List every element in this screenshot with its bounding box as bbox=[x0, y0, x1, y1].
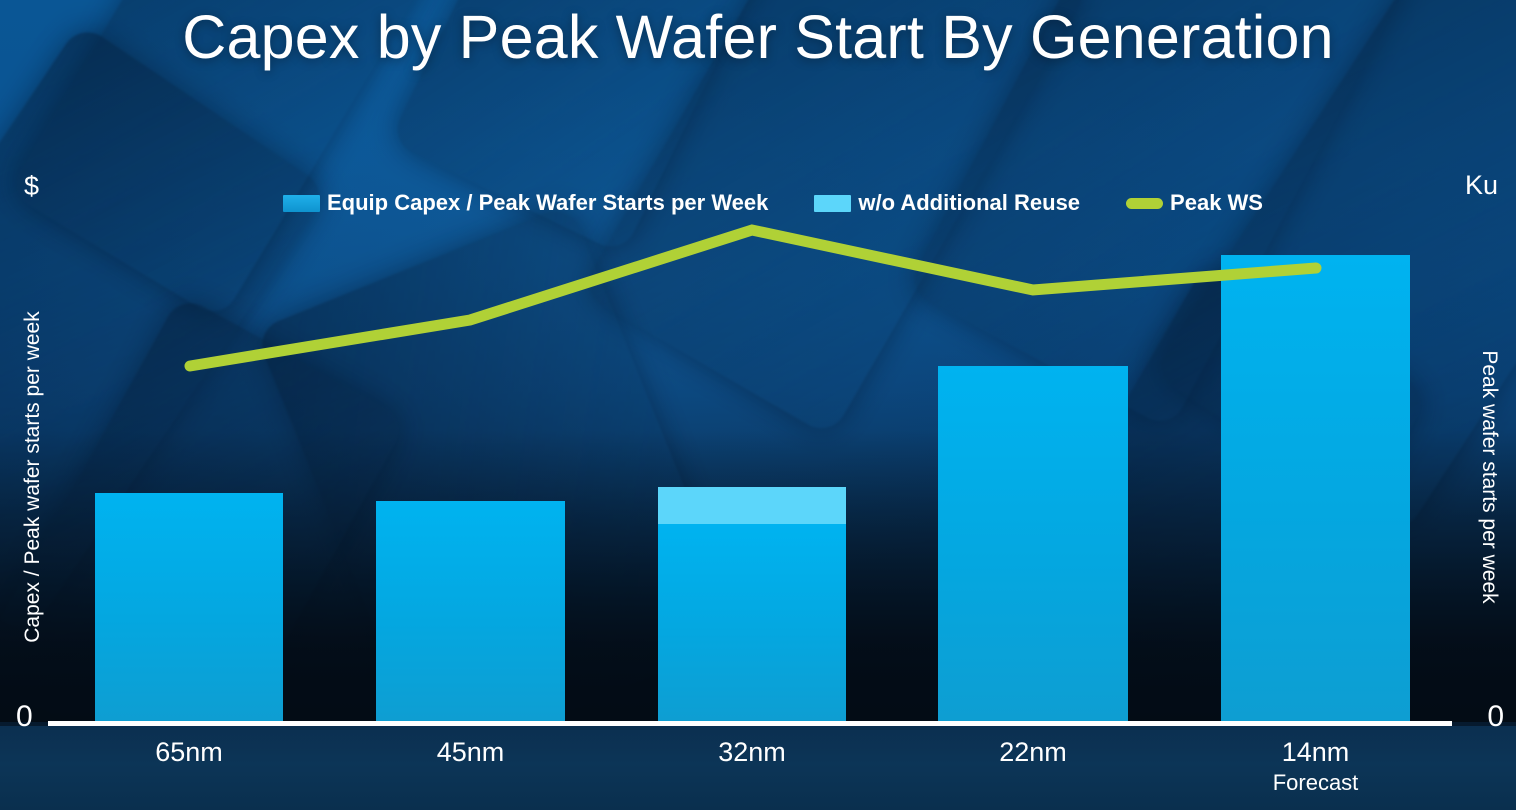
bar-32nm[interactable] bbox=[658, 487, 846, 721]
x-axis-label-14nm: 14nmForecast bbox=[1221, 735, 1410, 797]
bar-14nm[interactable] bbox=[1221, 255, 1410, 721]
bar-segment-capex bbox=[658, 524, 846, 721]
plot-area bbox=[0, 0, 1516, 810]
bar-segment-without-additional-reuse bbox=[658, 487, 846, 524]
x-axis-label-22nm: 22nm bbox=[938, 735, 1128, 769]
x-axis-label-45nm: 45nm bbox=[376, 735, 565, 769]
x-axis-label-name: 65nm bbox=[95, 735, 283, 769]
bar-segment-capex bbox=[95, 493, 283, 721]
bar-segment-capex bbox=[1221, 255, 1410, 721]
x-axis-label-name: 22nm bbox=[938, 735, 1128, 769]
x-axis-label-name: 32nm bbox=[658, 735, 846, 769]
x-axis-label-name: 45nm bbox=[376, 735, 565, 769]
bar-segment-capex bbox=[938, 366, 1128, 721]
x-axis-label-name: 14nm bbox=[1221, 735, 1410, 769]
chart-slide: Capex by Peak Wafer Start By Generation … bbox=[0, 0, 1516, 810]
x-axis-label-32nm: 32nm bbox=[658, 735, 846, 769]
bar-segment-capex bbox=[376, 501, 565, 721]
x-axis-label-sublabel: Forecast bbox=[1221, 769, 1410, 797]
bar-65nm[interactable] bbox=[95, 493, 283, 721]
x-axis-label-65nm: 65nm bbox=[95, 735, 283, 769]
bar-45nm[interactable] bbox=[376, 501, 565, 721]
bar-22nm[interactable] bbox=[938, 366, 1128, 721]
